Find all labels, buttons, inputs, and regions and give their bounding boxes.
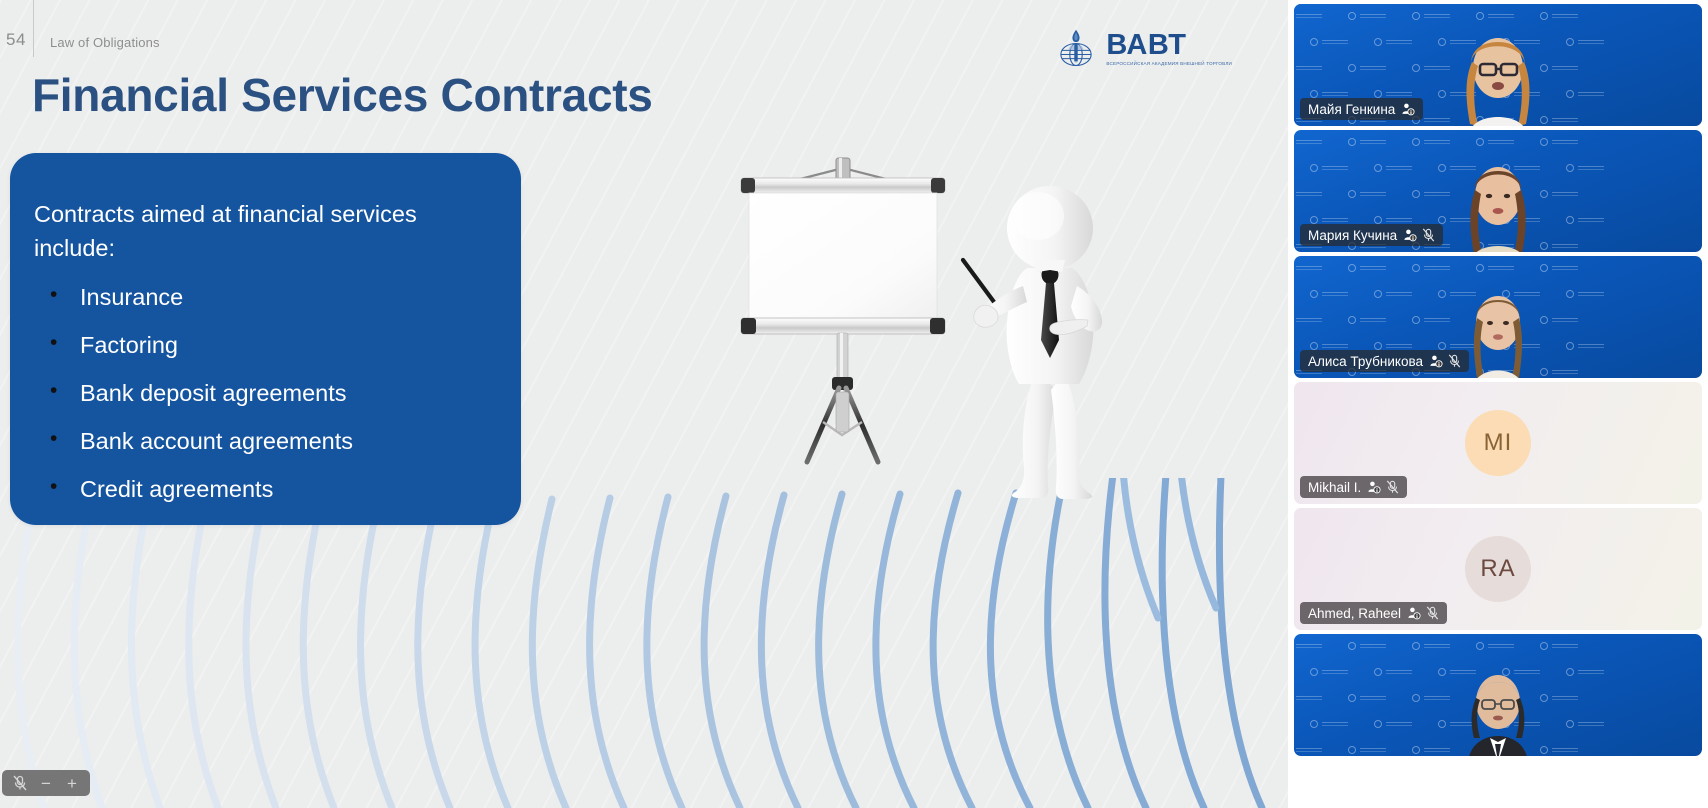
- logo-tagline: ВСЕРОССИЙСКАЯ АКАДЕМИЯ ВНЕШНЕЙ ТОРГОВЛИ: [1106, 62, 1232, 67]
- babt-logo: ВАВТ ВСЕРОССИЙСКАЯ АКАДЕМИЯ ВНЕШНЕЙ ТОРГ…: [1054, 27, 1232, 71]
- participant-name: Мария Кучина: [1308, 228, 1397, 243]
- shared-slide[interactable]: 54 Law of Obligations ВАВТ: [0, 0, 1288, 808]
- list-item: Credit agreements: [34, 477, 493, 503]
- list-item: Bank account agreements: [34, 429, 493, 477]
- participant-silhouette: [1444, 28, 1552, 126]
- microphone-muted-icon: [1426, 606, 1439, 620]
- bullet-list: Insurance Factoring Bank deposit agreeme…: [34, 285, 493, 502]
- participant-tile[interactable]: Майя Генкина: [1294, 4, 1702, 126]
- guest-info-icon: [1367, 480, 1381, 494]
- page-title: Financial Services Contracts: [32, 68, 653, 122]
- participant-tile[interactable]: RA Ahmed, Raheel: [1294, 508, 1702, 630]
- participant-name: Майя Генкина: [1308, 102, 1395, 117]
- list-item: Insurance: [34, 285, 493, 333]
- presenter-with-projection-screen-illustration: [735, 140, 1235, 530]
- participant-tile[interactable]: [1294, 634, 1702, 756]
- logo-wordmark: ВАВТ: [1106, 31, 1232, 60]
- chip-icons: [1367, 480, 1399, 494]
- participant-rail[interactable]: Майя Генкина: [1288, 0, 1708, 808]
- participant-tile[interactable]: Алиса Трубникова: [1294, 256, 1702, 378]
- avatar: RA: [1465, 536, 1531, 602]
- microphone-muted-icon[interactable]: [8, 772, 32, 794]
- avatar: MI: [1465, 410, 1531, 476]
- presenter-control-bar[interactable]: − +: [2, 770, 90, 796]
- participant-name: Mikhail I.: [1308, 480, 1361, 495]
- zoom-in-button[interactable]: +: [60, 772, 84, 794]
- guest-info-icon: [1403, 228, 1417, 242]
- microphone-muted-icon: [1422, 228, 1435, 242]
- list-item: Bank deposit agreements: [34, 381, 493, 429]
- participant-name-chip: Мария Кучина: [1300, 224, 1443, 246]
- page-number: 54: [6, 30, 26, 50]
- guest-info-icon: [1429, 354, 1443, 368]
- microphone-muted-icon: [1448, 354, 1461, 368]
- participant-name-chip: Ahmed, Raheel: [1300, 602, 1447, 624]
- list-item: Factoring: [34, 333, 493, 381]
- header-divider: [33, 0, 34, 57]
- content-card: Contracts aimed at financial services in…: [10, 153, 521, 525]
- participant-silhouette: [1444, 154, 1552, 252]
- participant-tile[interactable]: Мария Кучина: [1294, 130, 1702, 252]
- participant-silhouette: [1444, 658, 1552, 756]
- chip-icons: [1429, 354, 1461, 368]
- participant-name-chip: Mikhail I.: [1300, 476, 1407, 498]
- participant-tile[interactable]: MI Mikhail I.: [1294, 382, 1702, 504]
- participant-name: Ahmed, Raheel: [1308, 606, 1401, 621]
- guest-info-icon: [1401, 102, 1415, 116]
- chip-icons: [1407, 606, 1439, 620]
- chip-icons: [1401, 102, 1415, 116]
- video-feed: [1294, 634, 1702, 756]
- guest-info-icon: [1407, 606, 1421, 620]
- slide-header: 54 Law of Obligations ВАВТ: [0, 0, 1288, 62]
- participant-name-chip: Алиса Трубникова: [1300, 350, 1469, 372]
- zoom-out-button[interactable]: −: [34, 772, 58, 794]
- avatar-initials: RA: [1480, 555, 1515, 583]
- microphone-muted-icon: [1386, 480, 1399, 494]
- meeting-screen-share-view: 54 Law of Obligations ВАВТ: [0, 0, 1708, 808]
- participant-name-chip: Майя Генкина: [1300, 98, 1423, 120]
- card-lead-text: Contracts aimed at financial services in…: [34, 197, 474, 265]
- babt-emblem-icon: [1054, 27, 1098, 71]
- participant-name: Алиса Трубникова: [1308, 354, 1423, 369]
- avatar-initials: MI: [1484, 429, 1513, 457]
- course-label: Law of Obligations: [50, 35, 160, 50]
- chip-icons: [1403, 228, 1435, 242]
